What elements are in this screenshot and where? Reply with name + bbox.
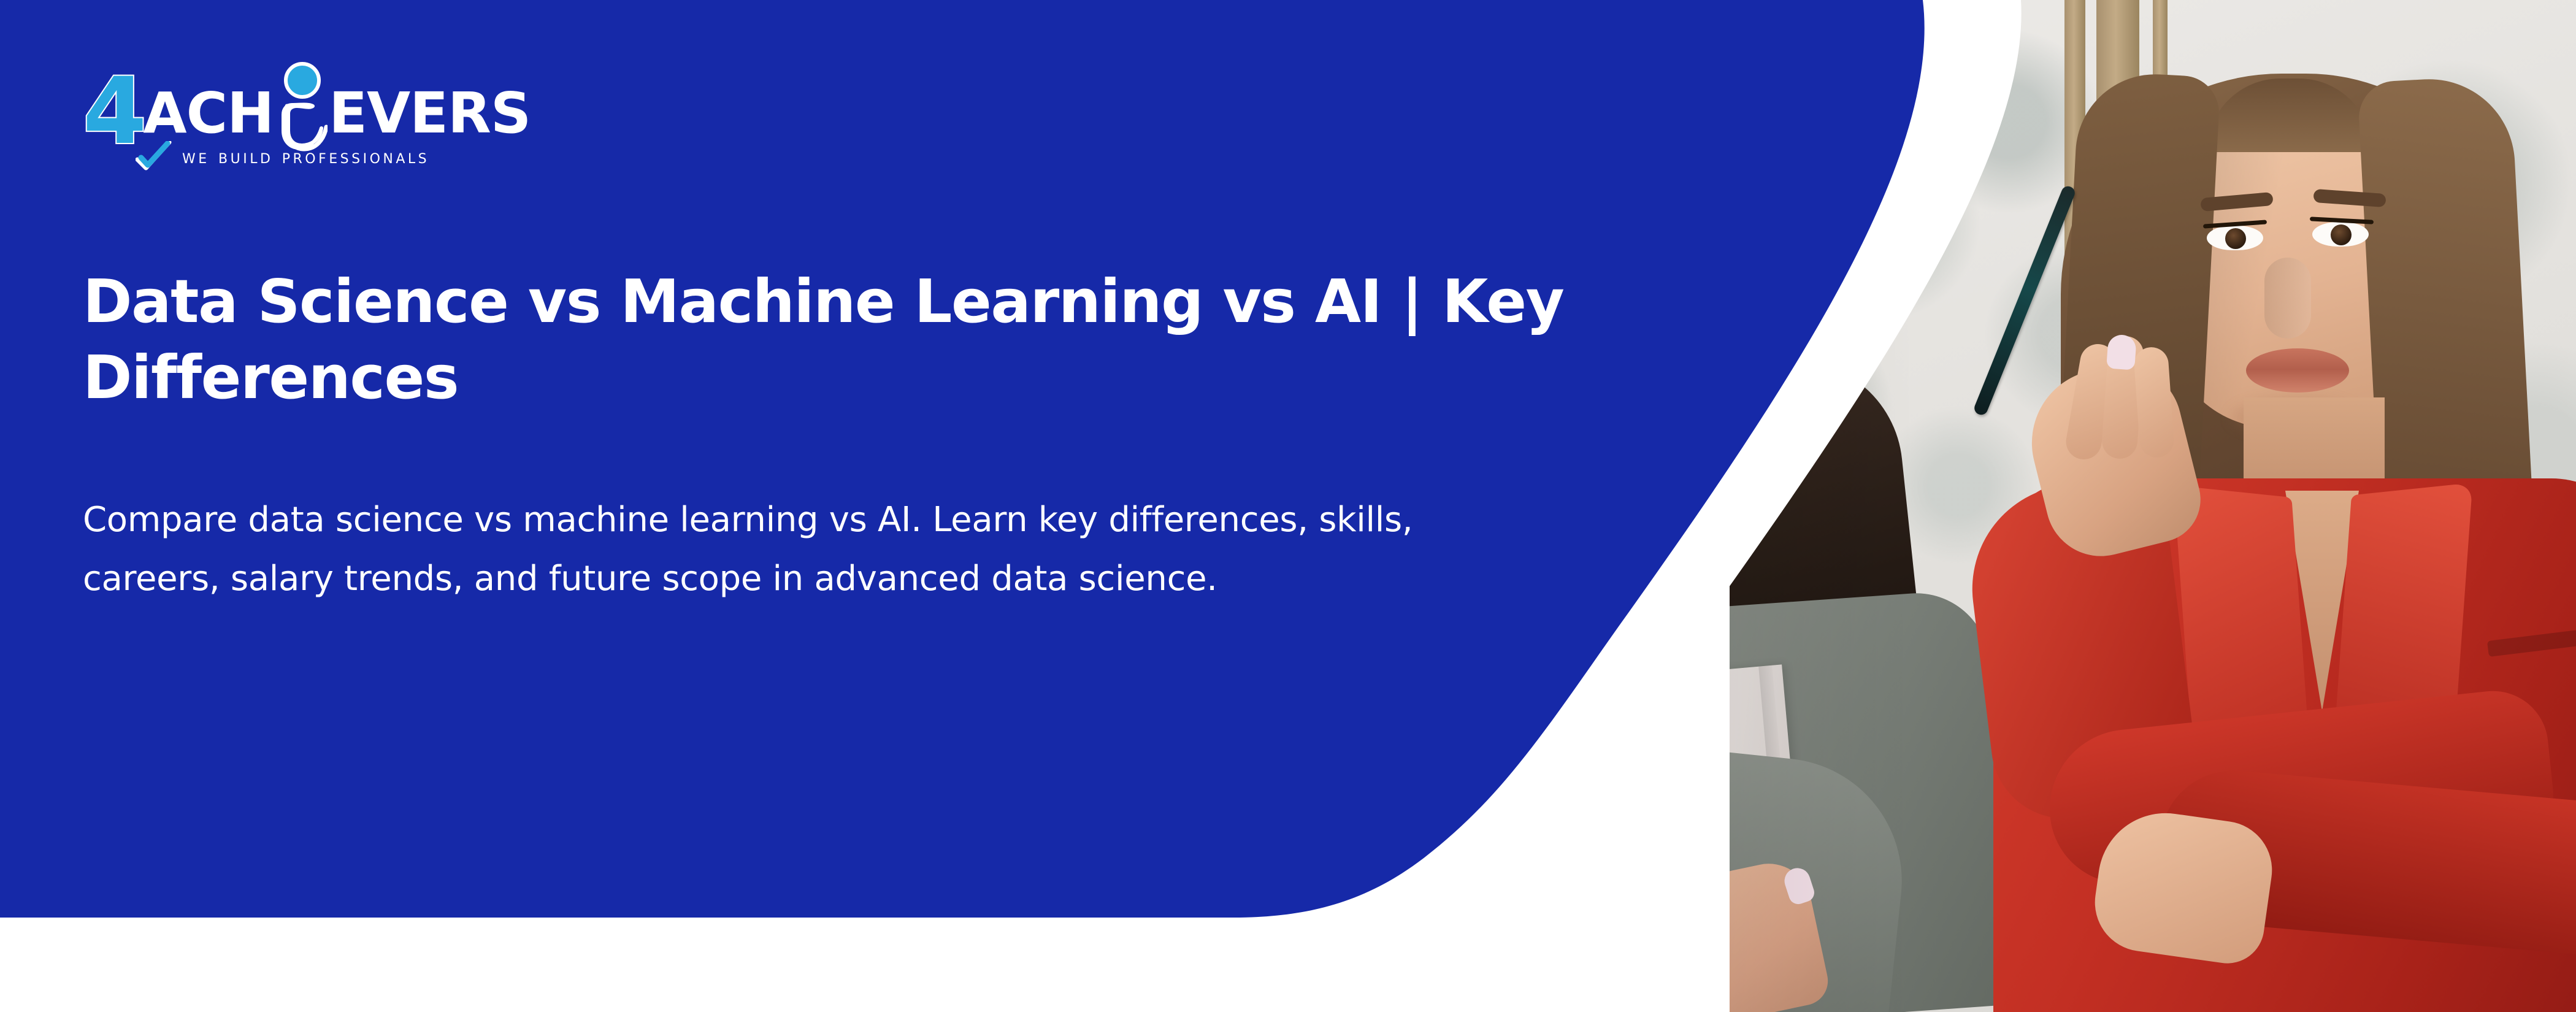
logo-wordmark: 4 ACH EVERS <box>83 64 531 144</box>
logo-text-ach: ACH <box>143 85 274 142</box>
page-title: Data Science vs Machine Learning vs AI |… <box>83 264 1567 416</box>
check-icon <box>136 141 172 173</box>
logo-tagline: We Build Professionals <box>182 146 429 168</box>
banner-content: 4 ACH EVERS We Bu <box>83 0 1493 1012</box>
logo-tagline-row: We Build Professionals <box>136 141 429 173</box>
logo-numeral-4: 4 <box>83 66 143 158</box>
logo-text-evers: EVERS <box>329 85 531 142</box>
page-subtitle: Compare data science vs machine learning… <box>83 491 1420 609</box>
brand-logo[interactable]: 4 ACH EVERS We Bu <box>83 64 488 172</box>
logo-person-i-icon <box>275 62 328 154</box>
hero-banner: 4 ACH EVERS We Bu <box>0 0 2576 1012</box>
